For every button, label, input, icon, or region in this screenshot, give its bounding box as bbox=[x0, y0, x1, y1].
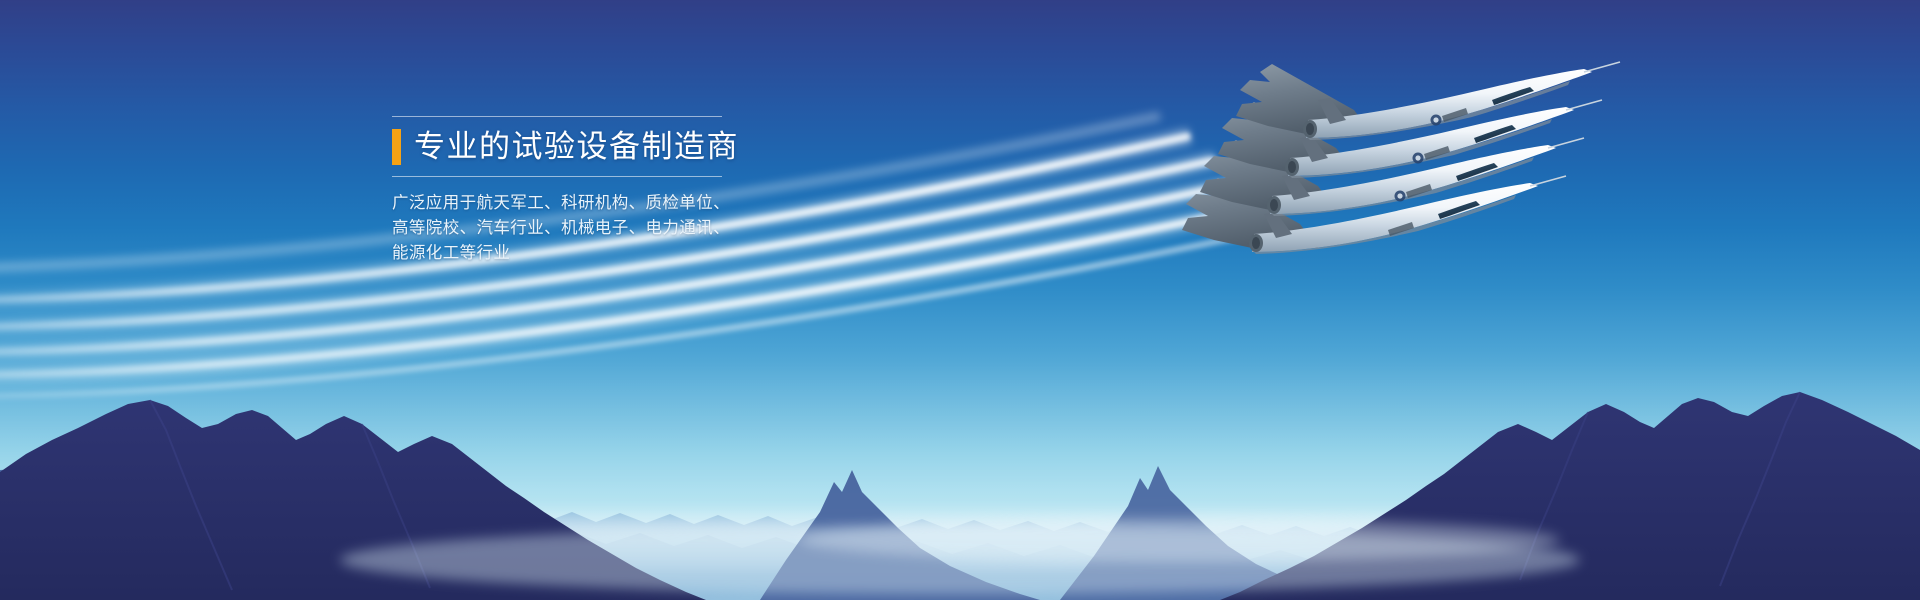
subtext-line-2: 高等院校、汽车行业、机械电子、电力通讯、 bbox=[392, 215, 812, 240]
accent-bar bbox=[392, 129, 401, 165]
headline-rule-bottom bbox=[392, 176, 722, 177]
banner-subtext: 广泛应用于航天军工、科研机构、质检单位、 高等院校、汽车行业、机械电子、电力通讯… bbox=[392, 190, 812, 265]
subtext-line-1: 广泛应用于航天军工、科研机构、质检单位、 bbox=[392, 190, 812, 215]
headline-rule-top bbox=[392, 116, 722, 117]
hero-banner: 专业的试验设备制造商 广泛应用于航天军工、科研机构、质检单位、 高等院校、汽车行… bbox=[0, 0, 1920, 600]
valley-mist-secondary bbox=[800, 518, 1560, 562]
banner-text-block: 专业的试验设备制造商 广泛应用于航天军工、科研机构、质检单位、 高等院校、汽车行… bbox=[392, 116, 812, 265]
headline-row: 专业的试验设备制造商 bbox=[392, 129, 812, 165]
page-title: 专业的试验设备制造商 bbox=[414, 129, 739, 165]
mountain-range bbox=[0, 0, 1920, 600]
subtext-line-3: 能源化工等行业 bbox=[392, 240, 812, 265]
